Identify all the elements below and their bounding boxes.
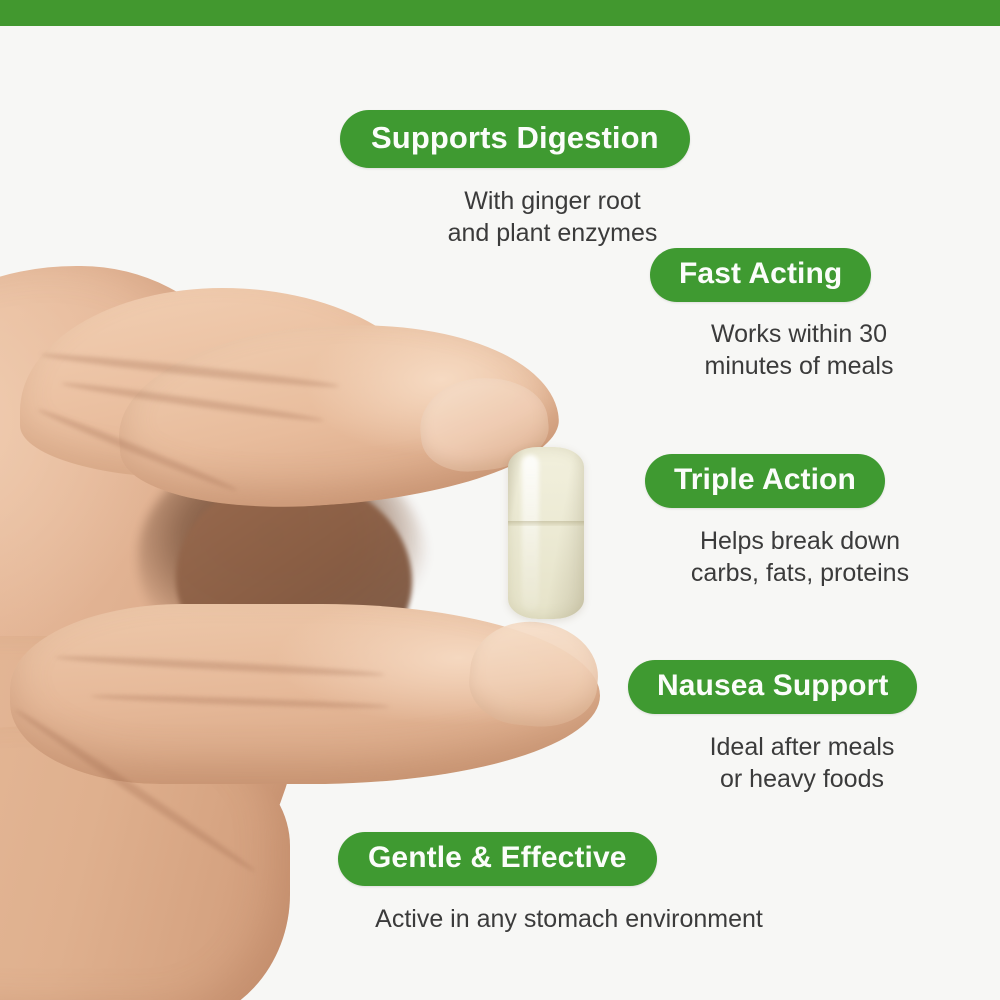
product-infographic: Supports Digestion With ginger root and …: [0, 0, 1000, 1000]
feature-callout-fast-acting: Fast Acting Works within 30 minutes of m…: [650, 248, 948, 382]
feature-badge: Nausea Support: [628, 660, 917, 714]
feature-callout-gentle-effective: Gentle & Effective Active in any stomach…: [338, 832, 800, 935]
feature-caption: Ideal after meals or heavy foods: [628, 731, 976, 795]
feature-caption: Active in any stomach environment: [338, 903, 800, 935]
feature-caption: With ginger root and plant enzymes: [340, 185, 765, 249]
feature-callout-supports-digestion: Supports Digestion With ginger root and …: [340, 110, 765, 249]
capsule-highlight: [522, 455, 539, 611]
feature-caption: Works within 30 minutes of meals: [650, 318, 948, 382]
feature-caption: Helps break down carbs, fats, proteins: [645, 525, 955, 589]
feature-callout-triple-action: Triple Action Helps break down carbs, fa…: [645, 454, 955, 589]
feature-badge: Triple Action: [645, 454, 885, 508]
feature-badge: Supports Digestion: [340, 110, 690, 168]
feature-callout-nausea-support: Nausea Support Ideal after meals or heav…: [628, 660, 976, 795]
supplement-capsule: [508, 447, 584, 619]
capsule-seam: [508, 521, 584, 526]
feature-badge: Fast Acting: [650, 248, 871, 302]
brand-top-bar: [0, 0, 1000, 26]
feature-badge: Gentle & Effective: [338, 832, 657, 886]
